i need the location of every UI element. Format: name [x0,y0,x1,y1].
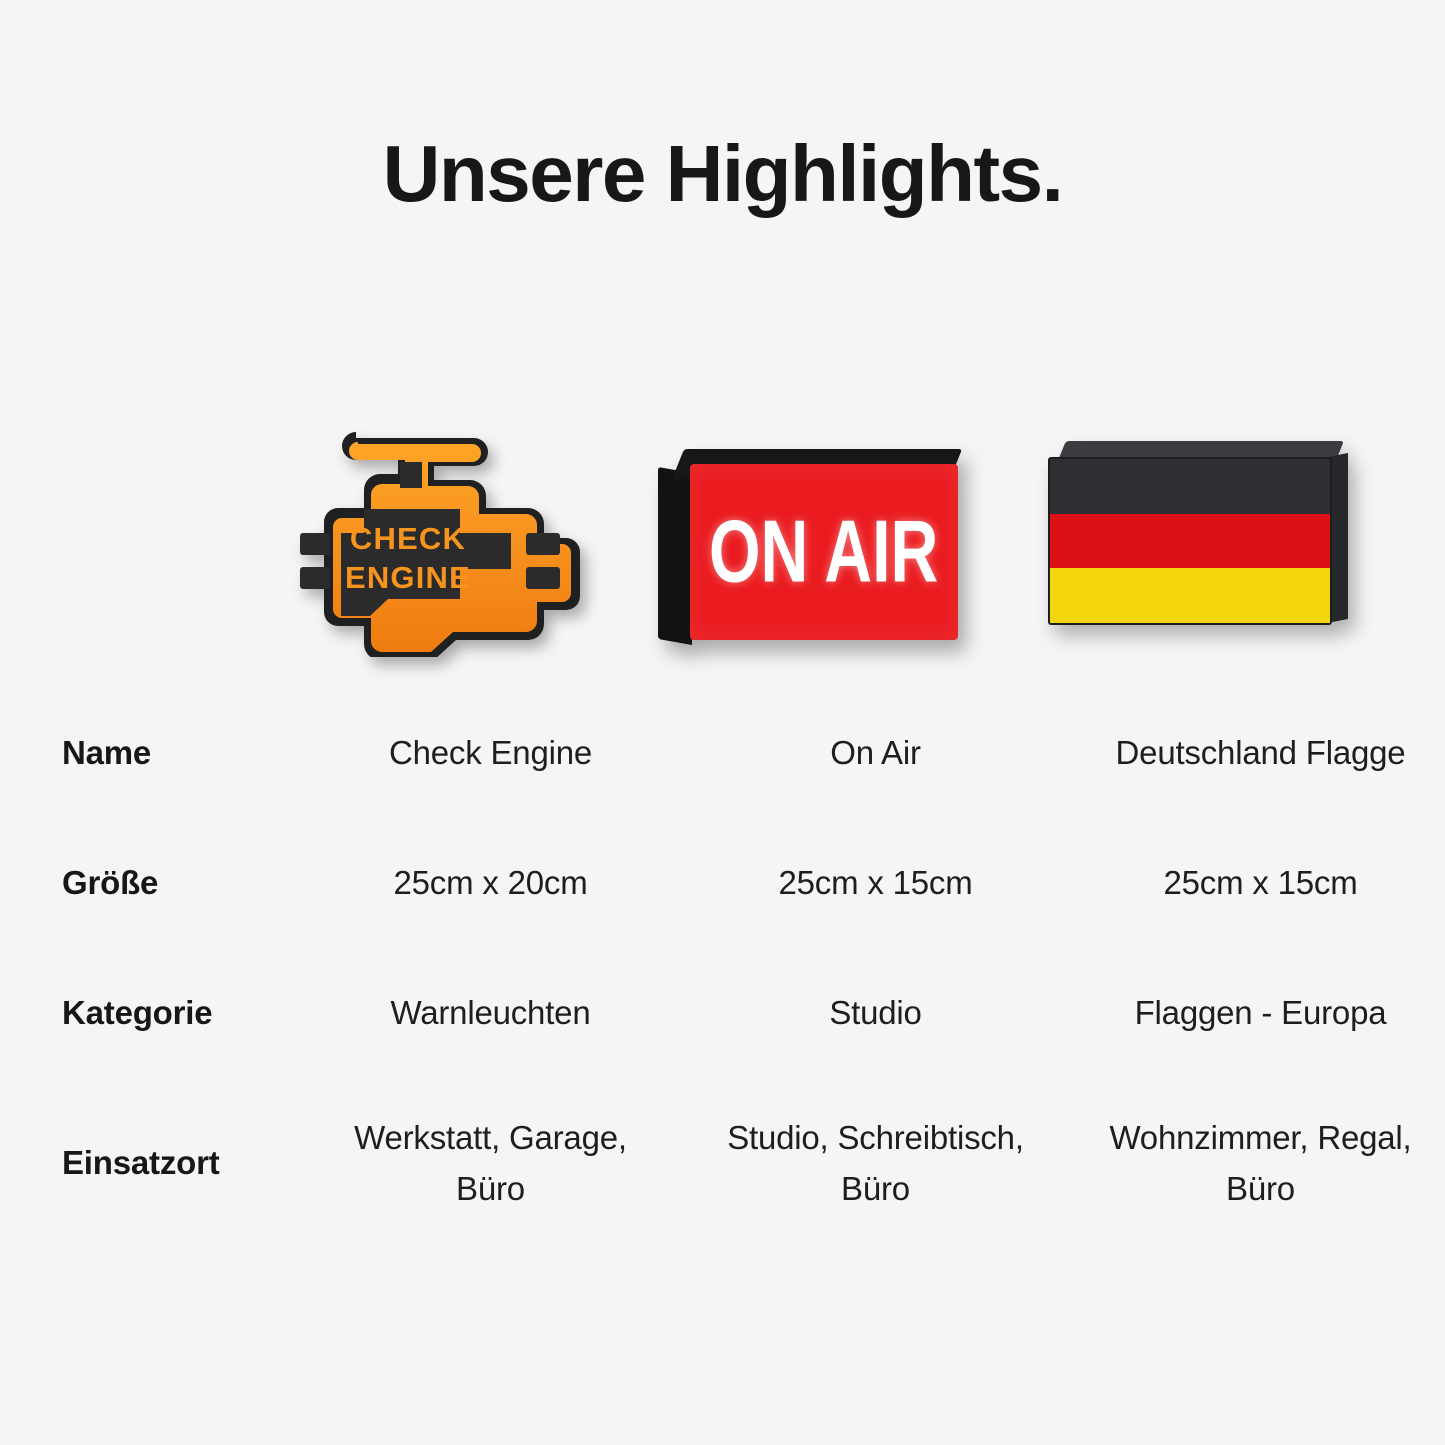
cell-groesse-on-air: 25cm x 15cm [683,818,1068,948]
cell-name-deutschland-flagge: Deutschland Flagge [1068,688,1445,818]
row-label-name: Name [0,688,298,818]
flag-side-panel [1330,453,1348,622]
engine-text-line2: ENGINE [344,560,470,595]
on-air-side-panel [658,467,692,645]
on-air-lightbox-icon: ON AIR [658,443,968,643]
spec-comparison-table: Name Check Engine On Air Deutschland Fla… [0,688,1445,1248]
cell-groesse-check-engine: 25cm x 20cm [298,818,683,948]
row-label-kategorie: Kategorie [0,948,298,1078]
product-image-on-air[interactable]: ON AIR [620,400,1005,665]
cell-einsatzort-check-engine: Werkstatt, Garage, Büro [298,1078,683,1248]
cell-kategorie-on-air: Studio [683,948,1068,1078]
cell-kategorie-check-engine: Warnleuchten [298,948,683,1078]
product-image-deutschland-flagge[interactable] [1005,400,1390,665]
product-image-row: CHECK ENGINE ON AIR [235,400,1445,665]
flag-face-panel [1048,457,1332,625]
cell-kategorie-deutschland-flagge: Flaggen - Europa [1068,948,1445,1078]
cell-name-check-engine: Check Engine [298,688,683,818]
table-row: Größe 25cm x 20cm 25cm x 15cm 25cm x 15c… [0,818,1445,948]
table-row: Einsatzort Werkstatt, Garage, Büro Studi… [0,1078,1445,1248]
cell-name-on-air: On Air [683,688,1068,818]
cell-groesse-deutschland-flagge: 25cm x 15cm [1068,818,1445,948]
flag-band-black [1050,459,1330,514]
table-row: Kategorie Warnleuchten Studio Flaggen - … [0,948,1445,1078]
flag-band-gold [1050,568,1330,623]
row-label-einsatzort: Einsatzort [0,1078,298,1248]
highlights-page: Unsere Highlights. [0,0,1445,1445]
page-title: Unsere Highlights. [0,132,1445,216]
flag-band-red [1050,514,1330,569]
on-air-text: ON AIR [709,508,938,596]
product-image-check-engine[interactable]: CHECK ENGINE [235,400,620,665]
cell-einsatzort-deutschland-flagge: Wohnzimmer, Regal, Büro [1068,1078,1445,1248]
table-row: Name Check Engine On Air Deutschland Fla… [0,688,1445,818]
germany-flag-lightbox-icon [1048,441,1348,641]
engine-shape-svg: CHECK ENGINE [268,425,588,657]
cell-einsatzort-on-air: Studio, Schreibtisch, Büro [683,1078,1068,1248]
row-label-groesse: Größe [0,818,298,948]
check-engine-lamp-icon: CHECK ENGINE [268,425,588,657]
on-air-face-panel: ON AIR [690,464,958,640]
engine-text-line1: CHECK [349,521,465,556]
